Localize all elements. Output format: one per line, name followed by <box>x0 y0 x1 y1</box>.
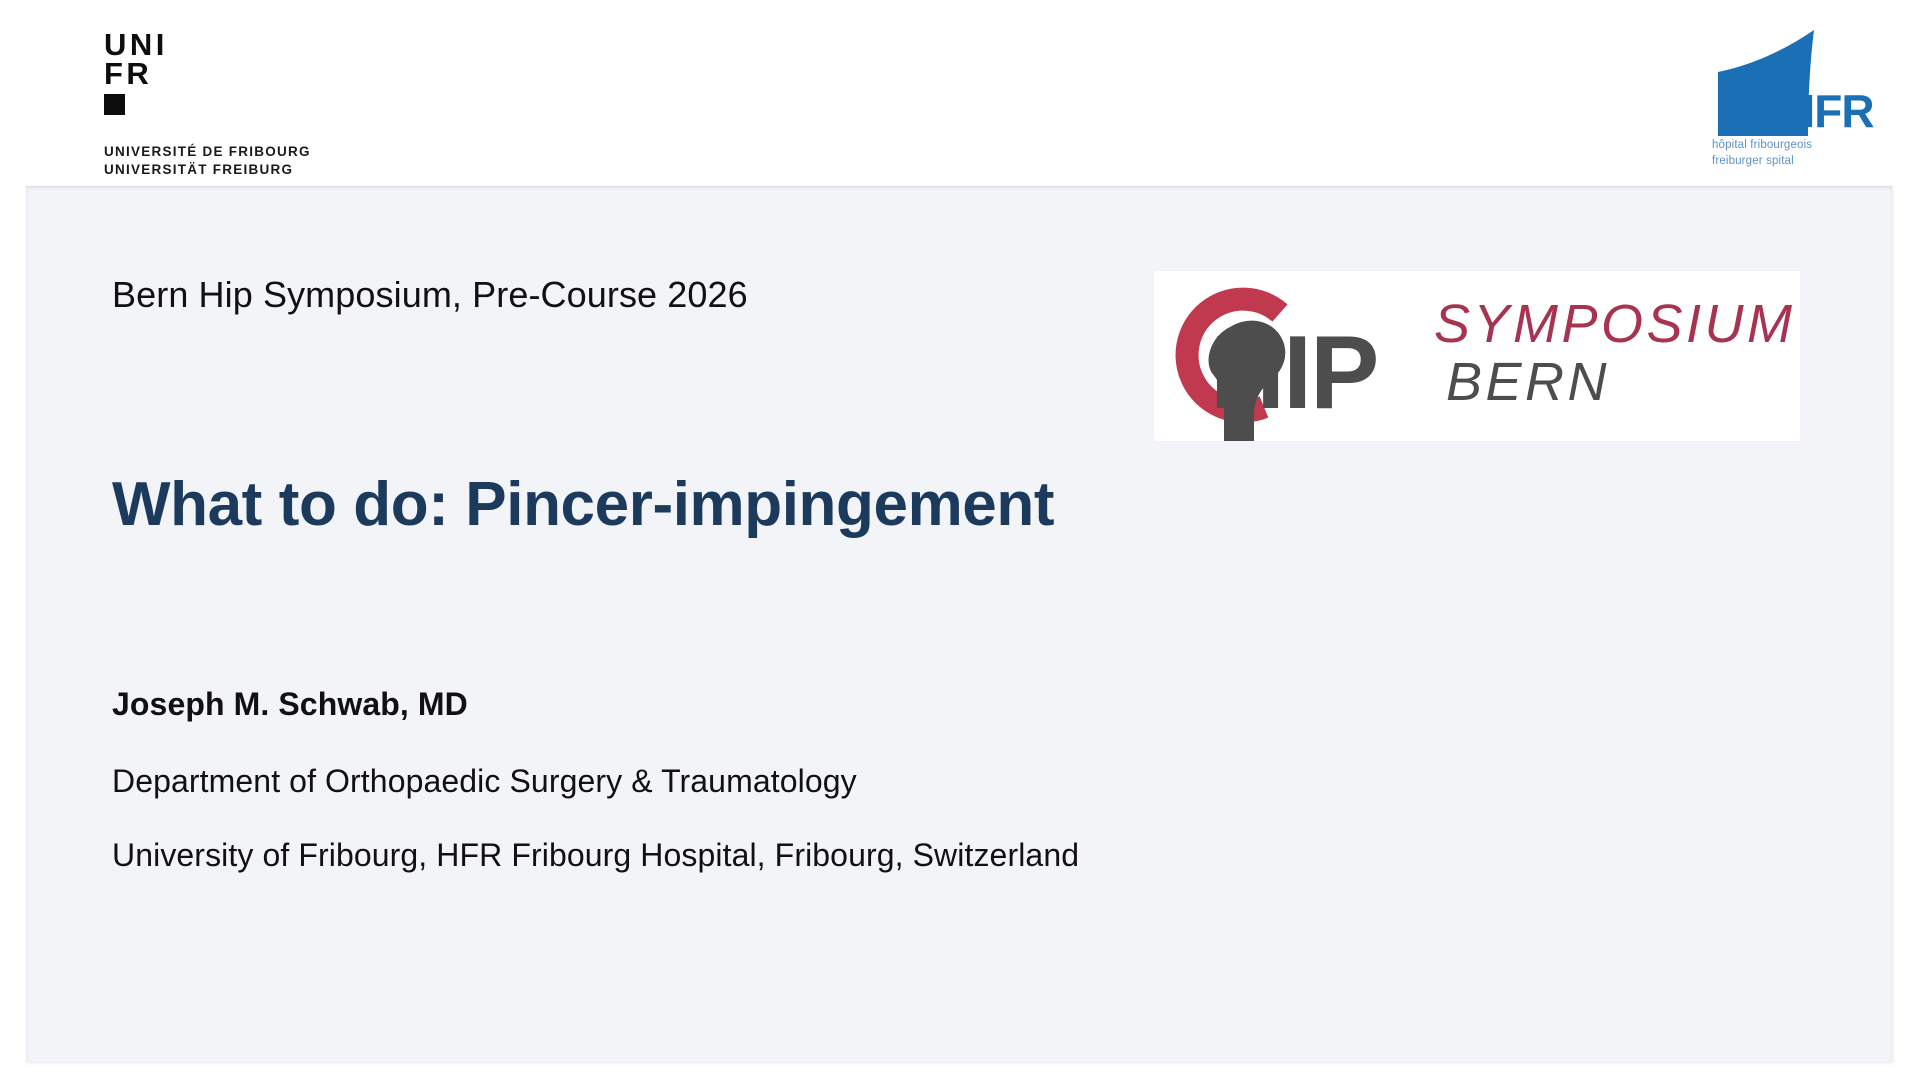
unifr-name-french: UNIVERSITÉ DE FRIBOURG <box>104 143 364 161</box>
hfr-tagline-french: hôpital fribourgeois <box>1712 138 1812 154</box>
hfr-tagline: hôpital fribourgeois freiburger spital <box>1712 138 1812 169</box>
slide-header-bar: UNI FR UNIVERSITÉ DE FRIBOURG UNIVERSITÄ… <box>0 0 1920 186</box>
author-name: Joseph M. Schwab, MD <box>112 686 468 723</box>
hip-symposium-bern-logo: HIP SYMPOSIUM BERN <box>1154 271 1800 441</box>
unifr-square-icon <box>104 94 125 115</box>
unifr-logo: UNI FR UNIVERSITÉ DE FRIBOURG UNIVERSITÄ… <box>104 30 364 165</box>
unifr-mark-line-uni: UNI <box>104 30 224 59</box>
hip-wordmark: HIP <box>1210 321 1377 425</box>
slide-title: What to do: Pincer-impingement <box>112 471 1054 539</box>
event-subtitle: Bern Hip Symposium, Pre-Course 2026 <box>112 274 748 316</box>
hfr-logo: HFR hôpital fribourgeois freiburger spit… <box>1710 28 1872 170</box>
slide-content-panel: Bern Hip Symposium, Pre-Course 2026 HIP … <box>26 186 1892 1062</box>
unifr-name-german: UNIVERSITÄT FREIBURG <box>104 161 364 179</box>
hfr-acronym: HFR <box>1782 88 1874 134</box>
unifr-mark-line-fr: FR <box>104 59 224 88</box>
affiliation-department: Department of Orthopaedic Surgery & Trau… <box>112 763 857 800</box>
hfr-tagline-german: freiburger spital <box>1712 154 1812 170</box>
unifr-logo-wordmark: UNIVERSITÉ DE FRIBOURG UNIVERSITÄT FREIB… <box>104 143 364 179</box>
slide-root: UNI FR UNIVERSITÉ DE FRIBOURG UNIVERSITÄ… <box>0 0 1920 1080</box>
unifr-logo-mark: UNI FR <box>104 30 224 125</box>
affiliation-institution: University of Fribourg, HFR Fribourg Hos… <box>112 837 1079 874</box>
hip-symposium-text: SYMPOSIUM <box>1434 297 1796 351</box>
hip-bern-text: BERN <box>1446 355 1610 409</box>
